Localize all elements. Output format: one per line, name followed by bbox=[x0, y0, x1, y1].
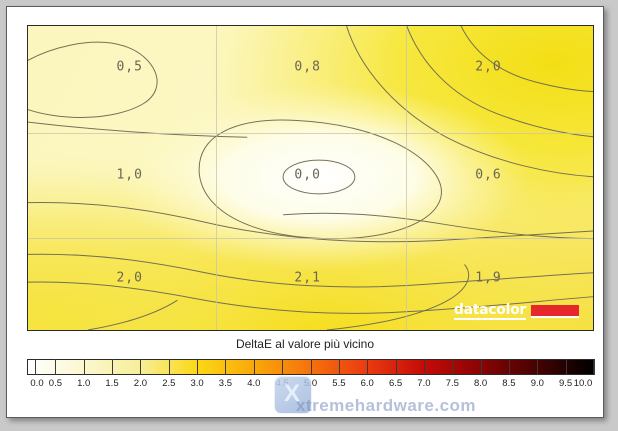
contour-label: 0,0 bbox=[294, 167, 320, 182]
colorbar-tick-label: 9.5 bbox=[559, 378, 572, 389]
colorbar-tick-label: 6.0 bbox=[361, 378, 374, 389]
datacolor-logo-text: datacolor bbox=[454, 303, 526, 320]
colorbar-tick-label: 10.0 bbox=[574, 378, 593, 389]
chart-card: 0,5 0,8 2,0 1,0 0,0 0,6 2,0 2,1 1,9 data… bbox=[6, 6, 604, 418]
colorbar-tick bbox=[396, 359, 397, 375]
colorbar-tick-label: 6.5 bbox=[389, 378, 402, 389]
colorbar-tick bbox=[566, 359, 567, 375]
contour-label: 2,0 bbox=[116, 271, 142, 286]
contour-label: 0,6 bbox=[475, 167, 501, 182]
colorbar-tick-label: 8.5 bbox=[502, 378, 515, 389]
colorbar-tick-label: 4.0 bbox=[247, 378, 260, 389]
colorbar-tick-label: 7.0 bbox=[417, 378, 430, 389]
colorbar-tick bbox=[311, 359, 312, 375]
colorbar-tick-label: 1.5 bbox=[105, 378, 118, 389]
colorbar-tick-label: 0.5 bbox=[49, 378, 62, 389]
colorbar-tick-label: 4.5 bbox=[276, 378, 289, 389]
gridline-vertical-1 bbox=[216, 26, 217, 330]
colorbar-tick bbox=[140, 359, 141, 375]
colorbar-tick-label: 7.5 bbox=[446, 378, 459, 389]
colorbar-tick-label: 3.0 bbox=[190, 378, 203, 389]
colorbar-tick bbox=[55, 359, 56, 375]
colorbar-tick bbox=[509, 359, 510, 375]
colorbar-tick-label: 5.5 bbox=[332, 378, 345, 389]
gridline-horizontal-2 bbox=[28, 238, 593, 239]
screenshot-root: 0,5 0,8 2,0 1,0 0,0 0,6 2,0 2,1 1,9 data… bbox=[0, 0, 618, 431]
datacolor-logo-bar bbox=[531, 305, 579, 318]
colorbar-tick bbox=[35, 359, 36, 375]
colorbar-tick bbox=[169, 359, 170, 375]
gridline-horizontal-1 bbox=[28, 133, 593, 134]
colorbar-tick-label: 8.0 bbox=[474, 378, 487, 389]
colorbar-tick-label: 9.0 bbox=[531, 378, 544, 389]
contour-label: 1,0 bbox=[116, 167, 142, 182]
colorbar-tick-label: 0.0 bbox=[30, 378, 43, 389]
colorbar-tick-label: 3.5 bbox=[219, 378, 232, 389]
contour-label: 1,9 bbox=[475, 271, 501, 286]
contour-label: 0,5 bbox=[116, 60, 142, 75]
contour-label: 0,8 bbox=[294, 60, 320, 75]
colorbar-tick bbox=[537, 359, 538, 375]
contour-label: 2,0 bbox=[475, 60, 501, 75]
colorbar-tick-label: 1.0 bbox=[77, 378, 90, 389]
gridline-vertical-2 bbox=[406, 26, 407, 330]
colorbar-tick-label: 2.0 bbox=[134, 378, 147, 389]
colorbar-tick bbox=[594, 359, 595, 375]
colorbar-tick bbox=[367, 359, 368, 375]
colorbar: 0.00.51.01.52.02.53.03.54.04.55.05.56.06… bbox=[27, 359, 594, 404]
contour-label: 2,1 bbox=[294, 271, 320, 286]
colorbar-tick-label: 5.0 bbox=[304, 378, 317, 389]
datacolor-logo: datacolor bbox=[454, 303, 579, 320]
colorbar-tick bbox=[481, 359, 482, 375]
colorbar-tick bbox=[282, 359, 283, 375]
colorbar-tick bbox=[452, 359, 453, 375]
colorbar-tick bbox=[339, 359, 340, 375]
colorbar-tick bbox=[254, 359, 255, 375]
colorbar-tick bbox=[84, 359, 85, 375]
legend-title: DeltaE al valore più vicino bbox=[7, 337, 603, 351]
colorbar-tick bbox=[225, 359, 226, 375]
colorbar-tick bbox=[112, 359, 113, 375]
colorbar-tick bbox=[424, 359, 425, 375]
colorbar-tick-label: 2.5 bbox=[162, 378, 175, 389]
contour-plot: 0,5 0,8 2,0 1,0 0,0 0,6 2,0 2,1 1,9 data… bbox=[27, 25, 594, 331]
colorbar-tick bbox=[197, 359, 198, 375]
